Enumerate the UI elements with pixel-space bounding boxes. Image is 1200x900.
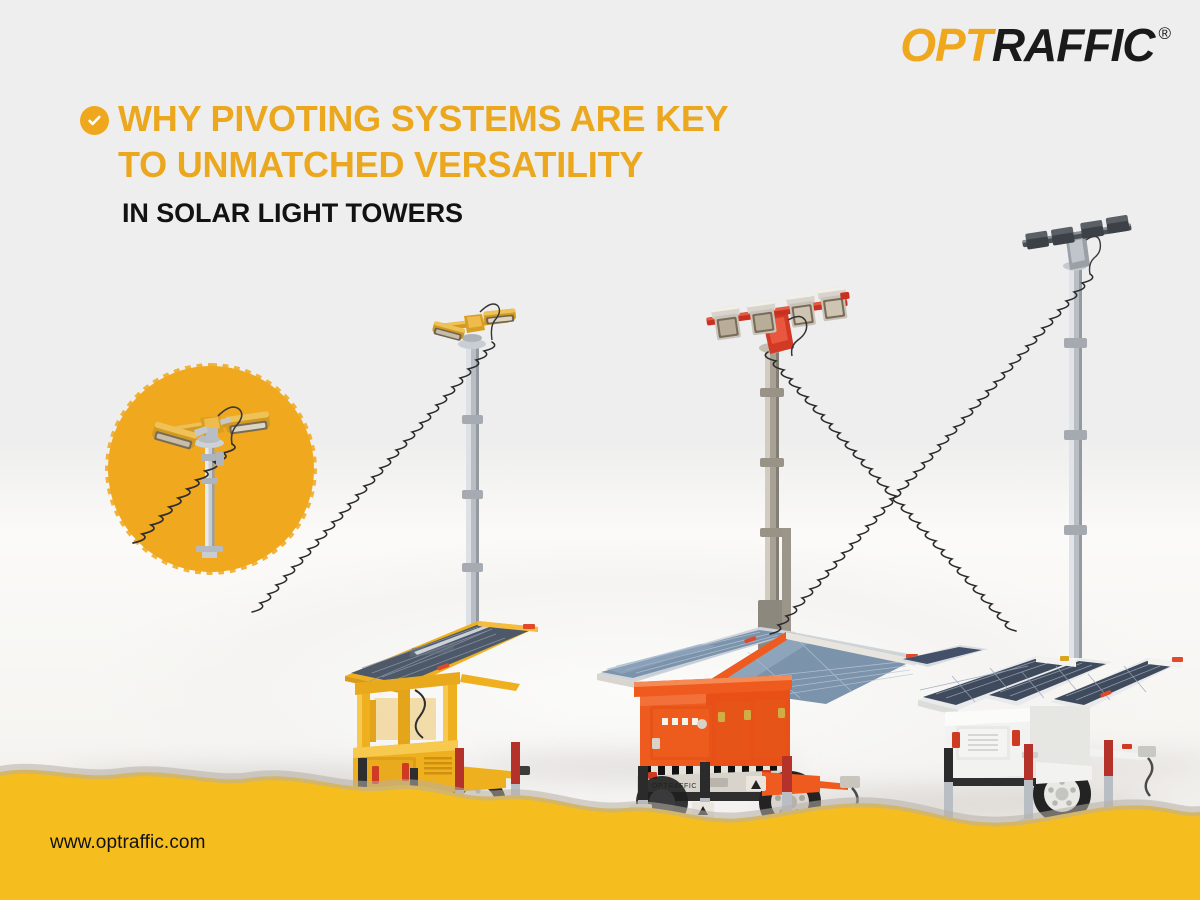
footer-band (0, 740, 1200, 900)
solar-panel-array (900, 645, 1183, 716)
promo-poster: OPT RAFFIC ® WHY PIVOTING SYSTEMS ARE KE… (0, 0, 1200, 900)
website-url[interactable]: www.optraffic.com (50, 832, 206, 854)
